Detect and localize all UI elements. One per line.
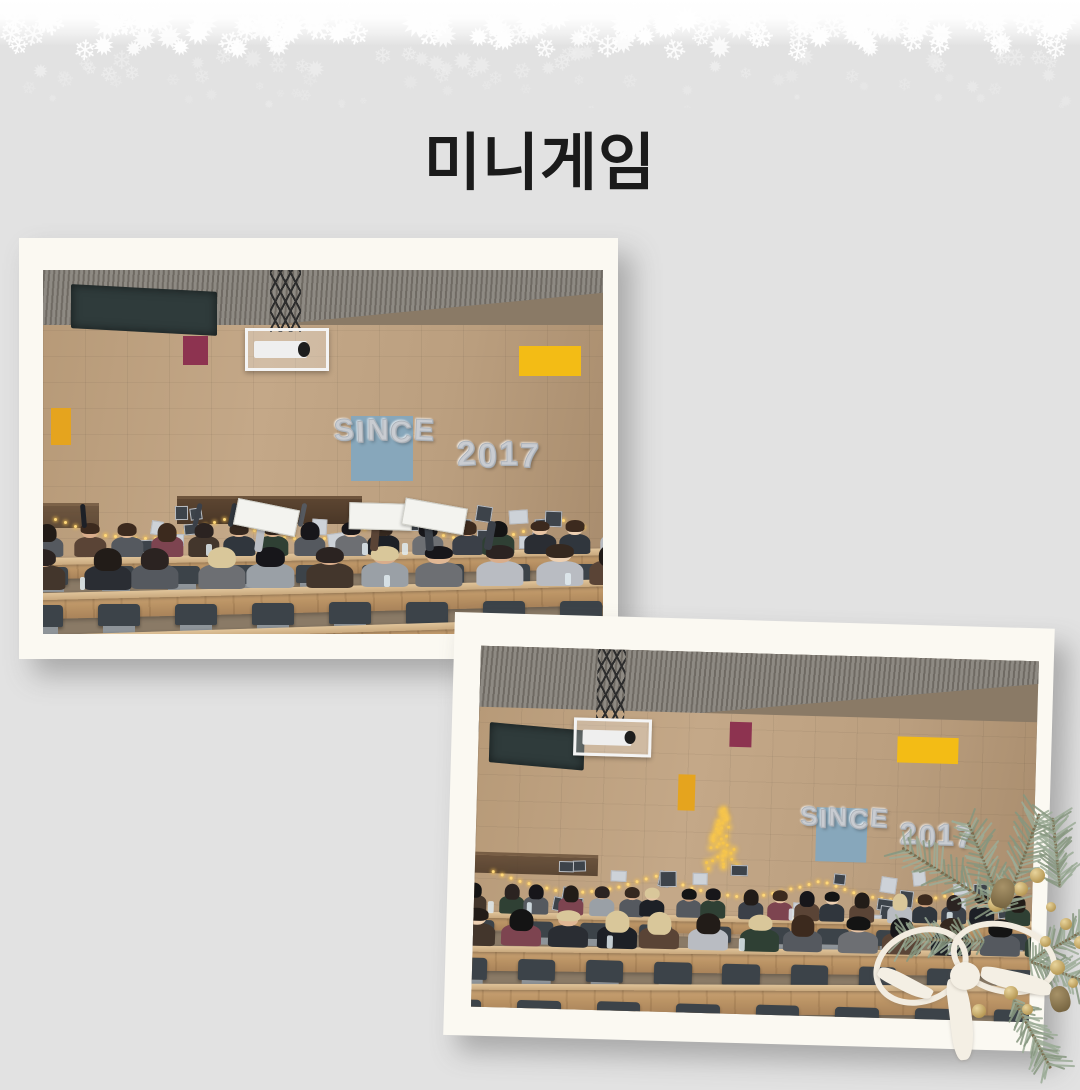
snowflake-icon: ✹ xyxy=(392,2,438,42)
lecture-chair xyxy=(471,998,481,1022)
audience-person xyxy=(43,550,66,590)
snowflake-icon: ❄ xyxy=(1039,53,1059,76)
pine-needle xyxy=(1075,914,1080,934)
snowflake-icon: ✹ xyxy=(120,36,147,64)
snowflake-icon: ❄ xyxy=(1028,3,1064,45)
tree-light xyxy=(709,846,712,849)
snowflake-icon: ❄ xyxy=(609,0,658,43)
snowflake-icon: ❄ xyxy=(892,75,914,96)
pine-needle xyxy=(1057,851,1075,864)
snowflake-icon: ✹ xyxy=(275,8,310,48)
pine-needle xyxy=(1055,839,1065,850)
snowflake-icon: ❄ xyxy=(734,64,754,84)
pine-needle xyxy=(1055,827,1074,842)
pine-needle xyxy=(1047,1062,1064,1070)
snowflake-icon: ❄ xyxy=(17,76,40,100)
pine-needle xyxy=(1043,1062,1048,1079)
snowflake-icon: ❄ xyxy=(545,49,574,78)
wall-polaroid xyxy=(559,861,574,872)
tree-light xyxy=(727,825,730,828)
person-hair xyxy=(43,549,56,566)
fairy-light xyxy=(989,886,992,889)
person-hair xyxy=(300,522,319,540)
audience-person xyxy=(306,548,353,588)
person-torso xyxy=(247,563,294,588)
person-hair xyxy=(531,521,550,532)
pine-needle xyxy=(1073,977,1080,1005)
snowflake-icon: ✹ xyxy=(219,32,255,66)
pine-needle xyxy=(1069,919,1077,939)
snowflake-icon: ✹ xyxy=(1042,0,1080,44)
snowflake-icon: ❄ xyxy=(780,37,813,67)
snowflake-icon: ❄ xyxy=(102,70,126,94)
person-hair xyxy=(773,890,788,902)
snowflake-icon: ❄ xyxy=(295,66,323,93)
person-hair xyxy=(624,887,639,899)
snowflake-icon: ❄ xyxy=(257,3,288,40)
person-hair xyxy=(892,893,907,911)
snowflake-icon: ✹ xyxy=(24,1,67,42)
photo-card-lecture-hall-wide[interactable]: SINCE 2017 xyxy=(443,612,1055,1052)
person-torso xyxy=(43,565,66,590)
snowflake-icon: ✹ xyxy=(872,11,910,53)
pine-needle xyxy=(1054,822,1076,837)
person-torso xyxy=(1032,908,1038,927)
snowflake-icon: ✹ xyxy=(256,25,297,65)
person-hair xyxy=(1038,897,1039,906)
audience-person xyxy=(782,916,823,953)
snowflake-icon: ✹ xyxy=(537,59,559,79)
snowflake-icon: ❄ xyxy=(260,28,292,61)
person-hair xyxy=(43,524,57,542)
fairy-light xyxy=(790,888,793,891)
fairy-light xyxy=(64,521,67,524)
pine-needle xyxy=(1055,836,1067,847)
person-hair xyxy=(471,883,482,898)
pine-needle xyxy=(1057,971,1067,988)
snowflake-icon: ❄ xyxy=(52,69,77,91)
tree-light xyxy=(717,856,720,859)
snowflake-icon: ✹ xyxy=(1033,4,1078,49)
pine-needle xyxy=(1056,850,1065,861)
tree-light xyxy=(720,826,723,829)
tree-light xyxy=(715,845,718,848)
snowflake-icon: ✹ xyxy=(1054,93,1074,108)
snowflake-icon: ✹ xyxy=(666,0,707,44)
snowflake-icon: ❄ xyxy=(187,64,214,90)
lecture-chair xyxy=(517,1000,561,1022)
person-hair xyxy=(975,895,990,904)
wall-polaroid xyxy=(474,504,493,522)
lecture-chair xyxy=(676,1003,720,1022)
snowflake-icon: ❄ xyxy=(209,44,236,69)
pine-needle xyxy=(1069,976,1074,995)
snowflake-icon: ✹ xyxy=(941,71,957,86)
snowflake-icon: ❄ xyxy=(101,5,140,47)
snowflake-icon: ✹ xyxy=(600,21,642,62)
wall-accent-panel-orange xyxy=(677,774,695,811)
fairy-light xyxy=(645,878,648,881)
snowflake-icon: ❄ xyxy=(117,61,143,86)
lecture-chair xyxy=(175,604,217,626)
snowflake-icon: ✹ xyxy=(892,4,941,54)
person-hair xyxy=(854,892,869,909)
pine-needle xyxy=(1057,921,1064,945)
wall-polaroid xyxy=(693,873,708,885)
pine-needle xyxy=(1059,864,1075,882)
photo-card-lecture-hall-hands-raised[interactable]: SINCE 2017 xyxy=(19,238,618,659)
balloon-letter: C xyxy=(849,806,869,833)
pine-needle xyxy=(1042,1065,1050,1078)
snowflake-icon: ❄ xyxy=(573,17,605,53)
lecture-chair xyxy=(329,602,371,624)
water-bottle xyxy=(80,577,86,589)
snowflake-icon: ❄ xyxy=(605,7,647,52)
pine-needle xyxy=(1033,1057,1046,1076)
lecture-hall-scene-wide: SINCE 2017 xyxy=(471,646,1039,1022)
person-hair xyxy=(141,548,169,570)
pine-needle xyxy=(1054,970,1060,983)
wall-accent-panel-yellow xyxy=(519,346,581,375)
snowflake-icon: ✹ xyxy=(122,1,165,40)
lecture-chair xyxy=(518,959,556,982)
snowflake-icon: ✹ xyxy=(424,51,449,78)
snowflake-icon: ✹ xyxy=(464,51,496,81)
lecture-chair xyxy=(755,1005,799,1022)
snowflake-icon: ❄ xyxy=(464,64,481,83)
water-bottle xyxy=(565,573,571,585)
pine-needle xyxy=(1076,966,1080,978)
balloon-letter: I xyxy=(356,417,365,447)
snowflake-icon: ❄ xyxy=(772,0,823,47)
pine-needle xyxy=(1070,967,1080,976)
person-torso xyxy=(306,563,353,588)
pine-needle xyxy=(1055,832,1066,845)
snowflake-icon: ❄ xyxy=(1025,44,1050,71)
fairy-light xyxy=(518,880,521,883)
wall-accent-panel-maroon xyxy=(729,721,752,747)
fairy-light xyxy=(54,518,57,521)
snowflake-icon: ❄ xyxy=(509,57,535,85)
pine-needle xyxy=(1053,810,1073,824)
person-hair xyxy=(1011,896,1026,913)
person-hair xyxy=(510,909,535,932)
snowflake-icon: ❄ xyxy=(1000,45,1027,68)
snowflake-icon: ❄ xyxy=(734,3,773,37)
tree-light xyxy=(721,858,724,861)
pine-needle xyxy=(1048,949,1067,957)
snowflake-icon: ✹ xyxy=(176,13,218,51)
fairy-light xyxy=(817,880,820,883)
pine-needle xyxy=(1054,961,1069,971)
person-torso xyxy=(547,924,587,947)
snowflake-icon: ❄ xyxy=(2,33,31,58)
fairy-light xyxy=(681,884,684,887)
snowflake-icon: ✹ xyxy=(475,7,512,46)
pine-needle xyxy=(1063,922,1065,941)
water-bottle xyxy=(947,943,953,955)
wall-polaroid xyxy=(659,871,676,887)
fairy-light xyxy=(554,889,557,892)
snowflake-icon: ✹ xyxy=(975,92,987,106)
snowflake-icon: ✹ xyxy=(716,5,759,51)
snowflake-icon: ✹ xyxy=(27,60,52,83)
snowflake-icon: ❄ xyxy=(111,48,133,74)
balloon-letter: E xyxy=(869,804,888,831)
snowflake-icon: ✹ xyxy=(855,78,872,95)
snowflake-icon: ✹ xyxy=(963,78,980,98)
snowflake-icon: ❄ xyxy=(979,28,1019,66)
snowflake-icon: ❄ xyxy=(17,17,50,54)
snowflake-icon: ✹ xyxy=(435,58,457,82)
snowflake-icon: ❄ xyxy=(949,0,999,45)
pine-needle xyxy=(1043,1054,1066,1058)
snowflake-icon: ✹ xyxy=(857,7,898,42)
snowflake-icon: ❄ xyxy=(778,21,816,56)
snowflake-icon: ❄ xyxy=(164,72,182,87)
snowflake-icon: ✹ xyxy=(440,83,456,101)
person-hair xyxy=(988,919,1012,937)
snowflake-icon: ✹ xyxy=(135,0,183,46)
audience-person xyxy=(131,549,178,589)
person-torso xyxy=(471,922,496,945)
snowflake-icon: ❄ xyxy=(683,0,730,47)
snowflake-icon: ✹ xyxy=(397,71,422,97)
tree-light xyxy=(730,857,733,860)
pine-needle xyxy=(1076,978,1080,1001)
snowflake-icon: ❄ xyxy=(96,64,120,85)
wall-polaroid xyxy=(573,861,586,873)
pine-needle xyxy=(1066,939,1080,954)
pine-needle xyxy=(1058,862,1078,877)
audience-person xyxy=(739,915,780,952)
wall-polaroid xyxy=(833,873,846,885)
person-hair xyxy=(682,888,697,899)
snowflake-icon: ❄ xyxy=(573,72,586,87)
snowflake-icon: ✹ xyxy=(830,3,874,42)
fairy-light xyxy=(826,882,829,885)
snowflake-icon: ✹ xyxy=(86,30,120,61)
snowflake-icon: ❄ xyxy=(1001,1,1049,49)
balloon-letter: 2 xyxy=(900,820,917,850)
audience-person xyxy=(501,910,542,947)
snowflake-icon: ✹ xyxy=(702,34,732,59)
person-torso xyxy=(739,928,779,951)
tree-light xyxy=(733,848,736,851)
balloon-letter: 0 xyxy=(919,823,936,853)
audience-person xyxy=(639,913,680,950)
snowflake-icon: ❄ xyxy=(407,13,451,58)
snowflake-icon: ✹ xyxy=(259,16,285,46)
balloon-letters-since: SINCE xyxy=(334,416,434,446)
pine-needle xyxy=(1054,815,1070,834)
balloon-letter: 2 xyxy=(457,437,478,472)
snowflake-icon: ❄ xyxy=(232,16,262,50)
snow-haze xyxy=(0,0,1080,46)
person-torso xyxy=(476,561,523,586)
pine-needle xyxy=(1053,813,1065,826)
snowflake-icon: ❄ xyxy=(294,85,315,107)
pine-needle xyxy=(1051,955,1073,970)
tree-light xyxy=(720,837,723,840)
snowflake-icon: ✹ xyxy=(1033,8,1068,46)
pine-needle xyxy=(1049,1064,1075,1067)
snowflake-icon: ❄ xyxy=(478,77,494,94)
snowflake-icon: ❄ xyxy=(0,17,27,52)
pine-needle xyxy=(1066,916,1077,941)
snowflake-icon: ✹ xyxy=(901,0,939,40)
snowflake-icon: ❄ xyxy=(855,0,907,45)
pine-needle xyxy=(1053,818,1067,832)
pine-needle xyxy=(1046,879,1061,888)
pine-needle xyxy=(1045,1056,1061,1060)
snowflake-icon: ❄ xyxy=(337,103,345,108)
pine-needle xyxy=(1072,914,1074,937)
wall-polaroid xyxy=(175,506,188,520)
snowflake-icon: ✹ xyxy=(462,22,495,52)
pine-needle xyxy=(1045,951,1062,962)
snowflake-icon: ✹ xyxy=(972,2,1016,47)
lecture-chair xyxy=(406,602,448,624)
snowflake-icon: ❄ xyxy=(1027,22,1062,56)
audience-person xyxy=(471,909,496,946)
snowflake-icon: ❄ xyxy=(815,14,848,42)
person-hair xyxy=(594,886,609,899)
snowflake-icon: ✹ xyxy=(403,0,453,49)
snowflake-icon: ❄ xyxy=(293,57,311,78)
snowflake-icon: ✹ xyxy=(985,26,1018,62)
snowflake-icon: ✹ xyxy=(509,0,551,43)
snowflake-icon: ❄ xyxy=(483,67,507,89)
wall-recess-window xyxy=(71,284,217,335)
fairy-light xyxy=(998,889,1001,892)
audience-person xyxy=(1032,897,1038,927)
pine-needle xyxy=(1045,966,1054,987)
snowflake-icon: ❄ xyxy=(527,31,563,67)
snowflake-border: ✹✹❄❄❄❄✹❄✹✹❄❄✹✹✹✹❄✹❄❄❄❄❄❄✹✹❄✹❄❄❄✹❄✹✹✹✹✹❄❄… xyxy=(0,0,1080,108)
audience-person xyxy=(198,549,245,589)
page-title: 미니게임 xyxy=(0,112,1080,202)
fairy-light xyxy=(654,875,657,878)
snowflake-icon: ✹ xyxy=(856,36,883,60)
balloon-letters-since: SINCE xyxy=(800,803,888,831)
snowflake-icon: ❄ xyxy=(518,5,556,47)
pine-needle xyxy=(1059,873,1073,885)
tree-light xyxy=(716,824,719,827)
pine-needle xyxy=(1054,829,1068,840)
snowflake-icon: ❄ xyxy=(300,13,335,42)
snowflake-icon: ✹ xyxy=(330,16,358,48)
water-bottle xyxy=(607,936,613,948)
balloon-letter: N xyxy=(366,416,388,446)
snowflake-icon: ✹ xyxy=(486,22,522,59)
fairy-light xyxy=(627,883,630,886)
water-bottle xyxy=(384,575,390,587)
snowflake-icon: ✹ xyxy=(235,44,267,75)
balloon-letter: 0 xyxy=(478,439,498,474)
balloon-letter: S xyxy=(333,415,355,446)
tree-light xyxy=(721,854,724,857)
fairy-light xyxy=(1007,892,1010,895)
fairy-light xyxy=(509,877,512,880)
snowflake-icon: ✹ xyxy=(562,25,592,57)
person-hair xyxy=(208,547,236,568)
person-hair xyxy=(118,523,137,536)
projector-mount xyxy=(573,717,653,758)
snowflake-icon: ❄ xyxy=(973,15,1014,54)
audience-person xyxy=(590,545,604,585)
snowflake-icon: ✹ xyxy=(643,0,693,44)
snowflake-icon: ❄ xyxy=(584,104,596,108)
snowflake-icon: ✹ xyxy=(180,92,195,108)
person-torso xyxy=(837,931,877,954)
person-hair xyxy=(791,915,815,938)
snowflake-icon: ❄ xyxy=(0,1,35,42)
person-torso xyxy=(536,561,583,586)
snowflake-icon: ❄ xyxy=(255,82,265,94)
snowflake-icon: ✹ xyxy=(791,92,802,103)
audience-person xyxy=(247,548,294,588)
pine-needle xyxy=(1057,857,1067,869)
pine-needle xyxy=(1060,922,1064,943)
gold-berry xyxy=(1068,978,1078,988)
snowflake-icon: ✹ xyxy=(151,20,185,58)
pine-needle xyxy=(1041,1060,1048,1084)
snowflake-icon: ✹ xyxy=(921,16,959,57)
fairy-light xyxy=(799,885,802,888)
person-hair xyxy=(605,911,629,933)
photo-image-lecture-hall-hands-raised: SINCE 2017 xyxy=(43,270,603,634)
gold-berry xyxy=(1046,902,1056,912)
balloon-letter: 7 xyxy=(955,823,973,854)
snowflake-icon: ❄ xyxy=(835,9,873,46)
tree-light xyxy=(711,859,714,862)
pine-needle xyxy=(1070,937,1080,941)
person-hair xyxy=(546,544,574,557)
snowflake-icon: ❄ xyxy=(105,0,152,48)
pine-needle xyxy=(1059,863,1080,880)
person-hair xyxy=(471,908,488,921)
snowflake-icon: ❄ xyxy=(516,81,533,100)
audience-person xyxy=(85,550,132,590)
lecture-chair xyxy=(722,963,760,986)
audience-person xyxy=(881,918,922,955)
snowflake-icon: ❄ xyxy=(1042,34,1069,65)
snowflake-icon: ✹ xyxy=(300,54,330,84)
tree-light xyxy=(726,844,729,847)
pine-needle xyxy=(1041,1048,1058,1052)
snowflake-icon: ✹ xyxy=(537,0,576,40)
snowflake-icon: ❄ xyxy=(71,36,97,66)
projector-lift-scissor xyxy=(596,646,626,719)
person-hair xyxy=(696,913,720,935)
fairy-light xyxy=(844,888,847,891)
person-hair xyxy=(743,889,758,905)
audience-person xyxy=(476,546,523,586)
snowflake-icon: ❄ xyxy=(989,48,1011,67)
lecture-chair xyxy=(654,962,692,985)
pine-needle xyxy=(1054,946,1066,950)
snowflake-icon: ✹ xyxy=(334,97,348,108)
snowflake-icon: ✹ xyxy=(268,14,307,55)
snowflake-icon: ✹ xyxy=(801,19,838,58)
snowflake-icon: ✹ xyxy=(187,53,209,75)
balloon-letters-year: 2017 xyxy=(457,437,539,471)
snowflake-icon: ✹ xyxy=(787,43,819,75)
lecture-chair xyxy=(252,603,294,625)
person-hair xyxy=(158,523,177,542)
snowflake-icon: ❄ xyxy=(557,42,580,68)
